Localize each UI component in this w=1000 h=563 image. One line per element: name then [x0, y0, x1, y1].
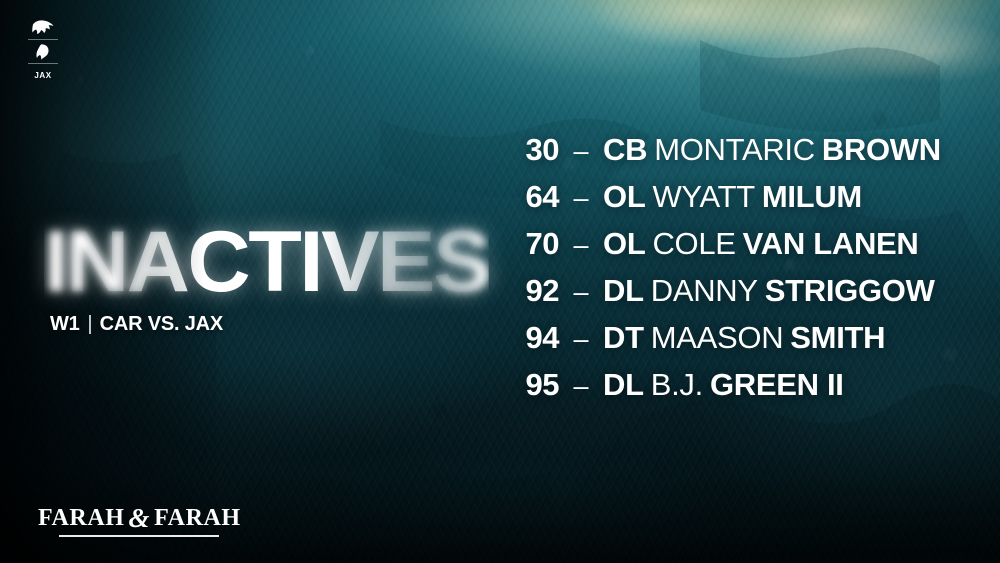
sponsor-logo: FARAH & FARAH [38, 504, 241, 537]
player-name: DTMAASONSMITH [603, 320, 885, 356]
player-position: OL [603, 226, 645, 261]
inactive-players-list: 30 – CBMONTARICBROWN 64 – OLWYATTMILUM 7… [505, 132, 941, 414]
player-first-name: DANNY [651, 273, 758, 308]
player-last-name: MILUM [762, 179, 862, 214]
player-name: DLB.J.GREEN II [603, 367, 844, 403]
player-name: CBMONTARICBROWN [603, 132, 941, 168]
row-separator: – [559, 230, 603, 261]
player-name: OLCOLEVAN LANEN [603, 226, 919, 262]
list-item: 92 – DLDANNYSTRIGGOW [505, 273, 941, 320]
player-number: 64 [505, 179, 559, 215]
player-position: OL [603, 179, 645, 214]
row-separator: – [559, 136, 603, 167]
player-first-name: WYATT [652, 179, 754, 214]
player-name: OLWYATTMILUM [603, 179, 862, 215]
subtitle-week: W1 [50, 313, 80, 336]
row-separator: – [559, 324, 603, 355]
player-last-name: SMITH [790, 320, 885, 355]
player-position: DL [603, 273, 644, 308]
headline-sharp-layer: INACTIVES [44, 222, 489, 303]
team-abbreviation: JAX [34, 72, 51, 80]
player-last-name: GREEN II [710, 367, 844, 402]
row-separator: – [559, 183, 603, 214]
player-last-name: BROWN [822, 132, 941, 167]
headline-block: INACTIVES INACTIVES INACTIVES W1 CAR VS.… [44, 222, 480, 336]
player-position: DL [603, 367, 644, 402]
player-position: DT [603, 320, 644, 355]
sponsor-word-one: FARAH [38, 506, 125, 530]
player-first-name: B.J. [651, 367, 703, 402]
player-position: CB [603, 132, 647, 167]
list-item: 95 – DLB.J.GREEN II [505, 367, 941, 414]
sponsor-underline [59, 535, 219, 537]
player-number: 95 [505, 367, 559, 403]
list-item: 94 – DTMAASONSMITH [505, 320, 941, 367]
page-title: INACTIVES INACTIVES INACTIVES [44, 222, 489, 303]
player-number: 70 [505, 226, 559, 262]
player-number: 30 [505, 132, 559, 168]
inactives-graphic: JAX INACTIVES INACTIVES INACTIVES W1 CAR… [0, 0, 1000, 563]
jaguar-head-icon [28, 16, 58, 39]
row-separator: – [559, 371, 603, 402]
player-last-name: STRIGGOW [765, 273, 935, 308]
subtitle-divider [89, 315, 91, 334]
subtitle-matchup: CAR VS. JAX [100, 313, 223, 336]
player-number: 94 [505, 320, 559, 356]
player-first-name: MONTARIC [654, 132, 815, 167]
list-item: 64 – OLWYATTMILUM [505, 179, 941, 226]
sponsor-word-two: FARAH [154, 506, 241, 530]
list-item: 30 – CBMONTARICBROWN [505, 132, 941, 179]
list-item: 70 – OLCOLEVAN LANEN [505, 226, 941, 273]
player-first-name: COLE [652, 226, 735, 261]
jaguars-wordmark-icon [28, 40, 58, 63]
sponsor-ampersand-icon: & [129, 505, 151, 532]
player-number: 92 [505, 273, 559, 309]
player-name: DLDANNYSTRIGGOW [603, 273, 935, 309]
player-first-name: MAASON [651, 320, 784, 355]
player-last-name: VAN LANEN [743, 226, 919, 261]
row-separator: – [559, 277, 603, 308]
subtitle: W1 CAR VS. JAX [50, 313, 480, 336]
team-lockup: JAX [28, 16, 58, 87]
